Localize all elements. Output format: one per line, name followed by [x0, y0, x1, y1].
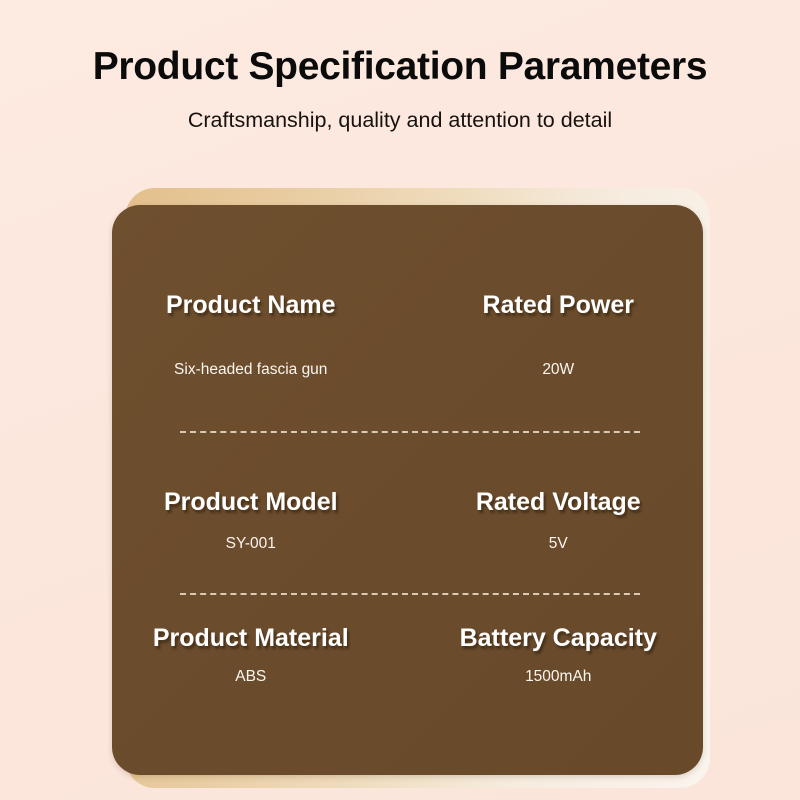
spec-label: Rated Voltage — [414, 487, 704, 517]
spec-card-stack: Product Name Six-headed fascia gun Rated… — [112, 188, 712, 788]
spec-label: Product Model — [112, 487, 390, 517]
spec-value: 1500mAh — [414, 667, 704, 687]
row-divider — [180, 593, 640, 595]
product-spec-page: Product Specification Parameters Craftsm… — [0, 0, 800, 800]
spec-value: SY-001 — [112, 534, 390, 554]
spec-card: Product Name Six-headed fascia gun Rated… — [112, 205, 703, 775]
spec-label: Product Name — [112, 290, 390, 320]
spec-value: 5V — [414, 534, 704, 554]
spec-cell-battery-capacity: Battery Capacity 1500mAh — [408, 623, 704, 687]
spec-row: Product Model SY-001 Rated Voltage 5V — [112, 487, 703, 554]
spec-cell-product-material: Product Material ABS — [112, 623, 408, 687]
spec-value: ABS — [112, 667, 390, 687]
spec-cell-product-model: Product Model SY-001 — [112, 487, 408, 554]
spec-cell-product-name: Product Name Six-headed fascia gun — [112, 290, 408, 380]
spec-row: Product Material ABS Battery Capacity 15… — [112, 623, 703, 687]
page-subtitle: Craftsmanship, quality and attention to … — [0, 107, 800, 133]
spec-label: Product Material — [112, 623, 390, 653]
row-divider — [180, 431, 640, 433]
spec-label: Rated Power — [414, 290, 704, 320]
spec-table: Product Name Six-headed fascia gun Rated… — [112, 205, 703, 775]
page-header: Product Specification Parameters Craftsm… — [0, 44, 800, 133]
spec-label: Battery Capacity — [414, 623, 704, 653]
spec-cell-rated-power: Rated Power 20W — [408, 290, 704, 380]
spec-cell-rated-voltage: Rated Voltage 5V — [408, 487, 704, 554]
spec-value: Six-headed fascia gun — [112, 360, 390, 380]
spec-value: 20W — [414, 360, 704, 380]
page-title: Product Specification Parameters — [0, 44, 800, 90]
spec-row: Product Name Six-headed fascia gun Rated… — [112, 290, 703, 380]
